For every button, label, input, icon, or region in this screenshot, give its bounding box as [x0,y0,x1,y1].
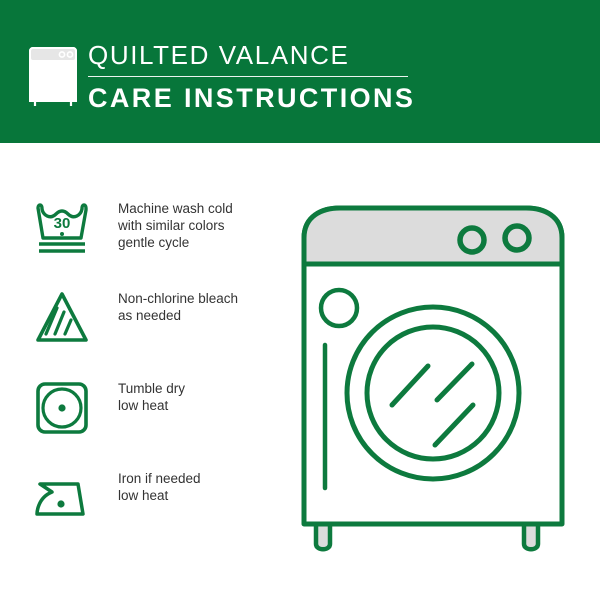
care-row-wash: 30 Machine wash cold with similar colors… [30,196,280,286]
care-text-line: gentle cycle [118,234,283,251]
machine-wash-30-gentle-symbol: 30 [30,196,102,260]
front-load-washing-machine-illustration [292,198,574,560]
care-text-line: as needed [118,307,283,324]
care-text-line: low heat [118,487,283,504]
care-row-bleach: Non-chlorine bleach as needed [30,286,280,376]
care-row-iron: Iron if needed low heat [30,466,280,556]
care-instruction-list: 30 Machine wash cold with similar colors… [30,196,280,556]
title-divider [88,76,408,77]
care-text-line: Tumble dry [118,380,283,397]
care-text-iron: Iron if needed low heat [118,470,283,504]
care-text-line: Non-chlorine bleach [118,290,283,307]
care-text-tumble-dry: Tumble dry low heat [118,380,283,414]
machine-control-panel [304,208,562,264]
care-text-line: Iron if needed [118,470,283,487]
washing-machine-icon [26,45,80,107]
care-text-bleach: Non-chlorine bleach as needed [118,290,283,324]
page-subtitle: CARE INSTRUCTIONS [88,82,508,114]
care-instructions-page: QUILTED VALANCE CARE INSTRUCTIONS 30 Mac… [0,0,600,600]
care-row-tumble-dry: Tumble dry low heat [30,376,280,466]
care-text-line: with similar colors [118,217,283,234]
care-text-wash: Machine wash cold with similar colors ge… [118,200,283,251]
care-text-line: Machine wash cold [118,200,283,217]
page-title: QUILTED VALANCE [88,40,508,70]
non-chlorine-bleach-symbol [30,286,102,350]
wash-temperature-value: 30 [54,215,71,232]
iron-low-symbol [30,466,102,530]
header-titles: QUILTED VALANCE CARE INSTRUCTIONS [88,40,508,114]
header-banner: QUILTED VALANCE CARE INSTRUCTIONS [0,0,600,143]
tumble-dry-low-symbol [30,376,102,440]
care-text-line: low heat [118,397,283,414]
